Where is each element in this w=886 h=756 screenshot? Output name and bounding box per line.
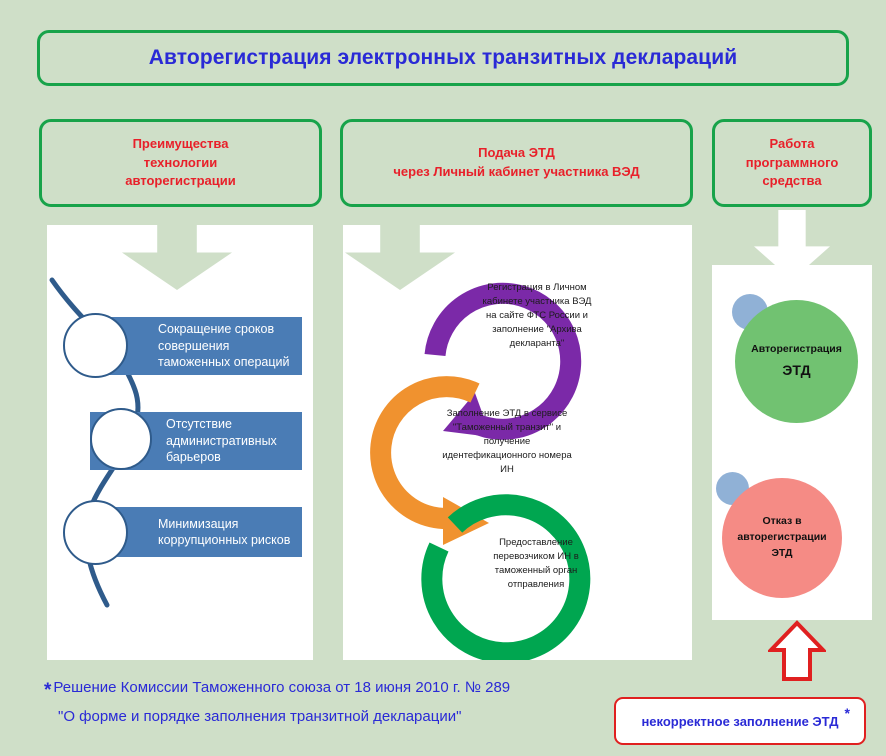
footnote-star: * — [44, 680, 51, 701]
result-failure-label: Отказ в авторегистрации ЭТД — [734, 514, 830, 561]
page-title: Авторегистрация электронных транзитных д… — [149, 46, 737, 70]
infographic-root: Авторегистрация электронных транзитных д… — [0, 0, 886, 756]
note-box-star: * — [845, 705, 850, 721]
advantage-item-3-label: Минимизация коррупционных рисков — [158, 516, 294, 549]
flow-step-3-label: Предоставление перевозчиком ИН в таможен… — [477, 536, 595, 592]
footnote-line-2: "О форме и порядке заполнения транзитной… — [58, 705, 604, 728]
section-header-submission: Подача ЭТД через Личный кабинет участник… — [340, 119, 693, 207]
arrow-up-icon-rejection — [768, 620, 826, 682]
note-box-label: некорректное заполнение ЭТД — [641, 714, 838, 729]
advantage-bullet-circle-2 — [90, 408, 152, 470]
footnote: *Решение Комиссии Таможенного союза от 1… — [44, 676, 604, 729]
result-success-line1: Авторегистрация — [751, 342, 842, 358]
flow-step-2-label: Заполнение ЭТД в сервисе "Таможенный тра… — [440, 407, 574, 477]
section-header-advantages-label: Преимущества технологии авторегистрации — [125, 135, 236, 192]
section-header-submission-label: Подача ЭТД через Личный кабинет участник… — [393, 144, 639, 182]
advantage-item-1-label: Сокращение сроков совершения таможенных … — [158, 321, 294, 371]
section-header-software-label: Работа программного средства — [746, 135, 839, 192]
flow-step-1-label: Регистрация в Личном кабинете участника … — [478, 281, 596, 351]
note-box-incorrect-filling: некорректное заполнение ЭТД * — [614, 697, 866, 745]
advantage-bullet-circle-3 — [63, 500, 128, 565]
result-success-line2: ЭТД — [782, 360, 810, 381]
footnote-line-1: Решение Комиссии Таможенного союза от 18… — [53, 679, 510, 696]
result-failure-circle: Отказ в авторегистрации ЭТД — [722, 478, 842, 598]
section-header-advantages: Преимущества технологии авторегистрации — [39, 119, 322, 207]
advantage-bullet-circle-1 — [63, 313, 128, 378]
page-title-box: Авторегистрация электронных транзитных д… — [37, 30, 849, 86]
section-header-software: Работа программного средства — [712, 119, 872, 207]
advantage-item-2-label: Отсутствие административных барьеров — [166, 416, 294, 466]
result-success-circle: Авторегистрация ЭТД — [735, 300, 858, 423]
